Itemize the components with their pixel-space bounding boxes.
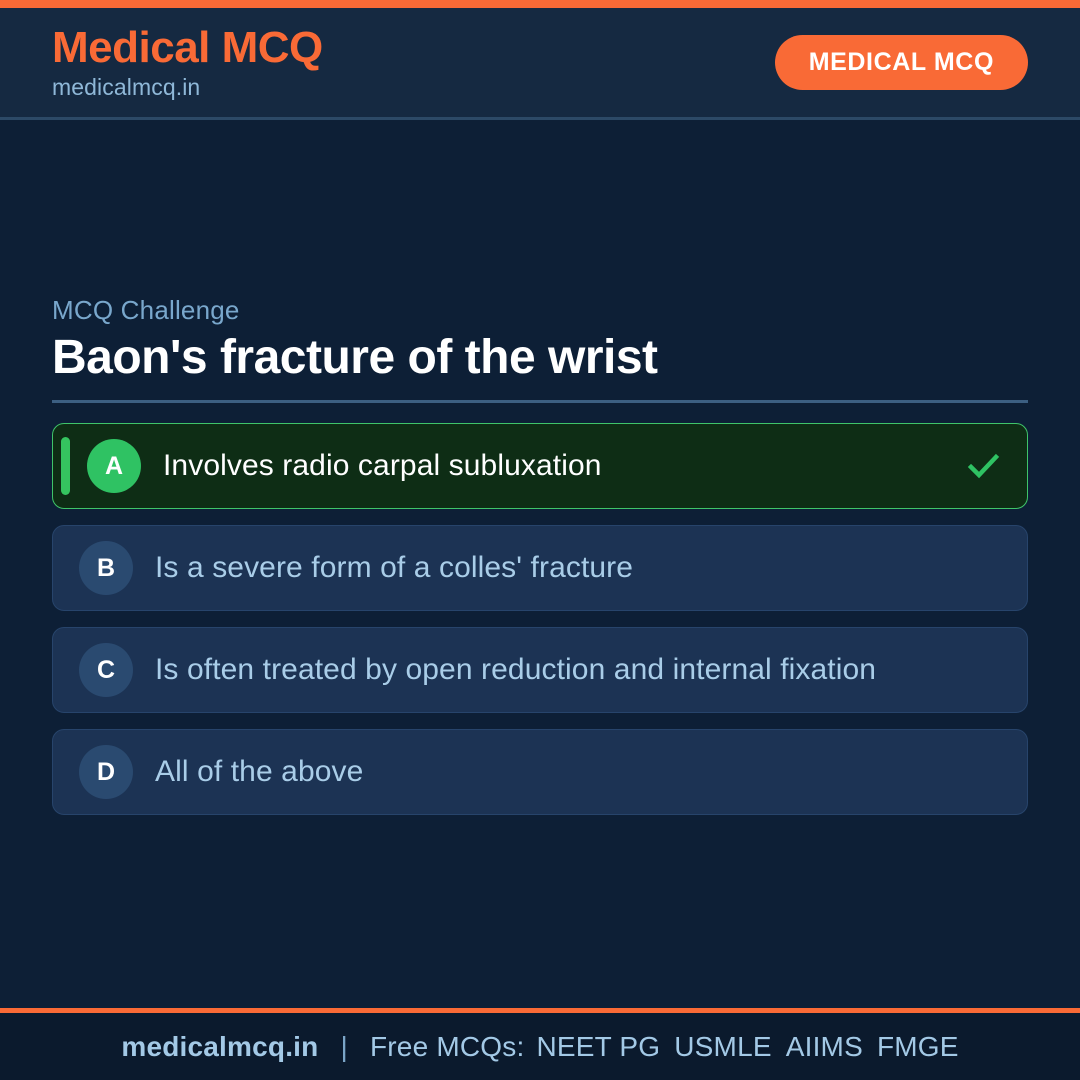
- option-c-letter: C: [79, 643, 133, 697]
- mcq-card: Medical MCQ medicalmcq.in MEDICAL MCQ MC…: [0, 0, 1080, 1080]
- footer: medicalmcq.in | Free MCQs: NEET PG USMLE…: [0, 1008, 1080, 1080]
- footer-exam-neet-pg: NEET PG: [536, 1031, 660, 1063]
- footer-exam-aiims: AIIMS: [786, 1031, 863, 1063]
- footer-exam-usmle: USMLE: [674, 1031, 771, 1063]
- brand-block: Medical MCQ medicalmcq.in: [52, 26, 323, 99]
- option-a-letter: A: [87, 439, 141, 493]
- option-b[interactable]: B Is a severe form of a colles' fracture: [52, 525, 1028, 611]
- title-divider: [52, 400, 1028, 403]
- brand-title: Medical MCQ: [52, 26, 323, 70]
- brand-website: medicalmcq.in: [52, 76, 323, 99]
- footer-exam-fmge: FMGE: [877, 1031, 959, 1063]
- top-accent-rule: [0, 0, 1080, 8]
- option-d-letter: D: [79, 745, 133, 799]
- footer-separator: |: [340, 1031, 347, 1063]
- header-badge: MEDICAL MCQ: [775, 35, 1028, 90]
- check-icon: [963, 446, 1003, 486]
- option-b-text: Is a severe form of a colles' fracture: [155, 552, 1003, 584]
- question-eyebrow: MCQ Challenge: [52, 295, 1028, 326]
- option-c-text: Is often treated by open reduction and i…: [155, 654, 1003, 686]
- option-a[interactable]: A Involves radio carpal subluxation: [52, 423, 1028, 509]
- main-content: MCQ Challenge Baon's fracture of the wri…: [0, 120, 1080, 1008]
- question-title: Baon's fracture of the wrist: [52, 332, 1028, 385]
- option-a-text: Involves radio carpal subluxation: [163, 450, 955, 482]
- option-d[interactable]: D All of the above: [52, 729, 1028, 815]
- footer-website: medicalmcq.in: [121, 1031, 318, 1063]
- options-list: A Involves radio carpal subluxation B Is…: [52, 423, 1028, 815]
- footer-label: Free MCQs:: [370, 1031, 524, 1063]
- option-b-letter: B: [79, 541, 133, 595]
- option-c[interactable]: C Is often treated by open reduction and…: [52, 627, 1028, 713]
- header: Medical MCQ medicalmcq.in MEDICAL MCQ: [0, 8, 1080, 120]
- option-d-text: All of the above: [155, 756, 1003, 788]
